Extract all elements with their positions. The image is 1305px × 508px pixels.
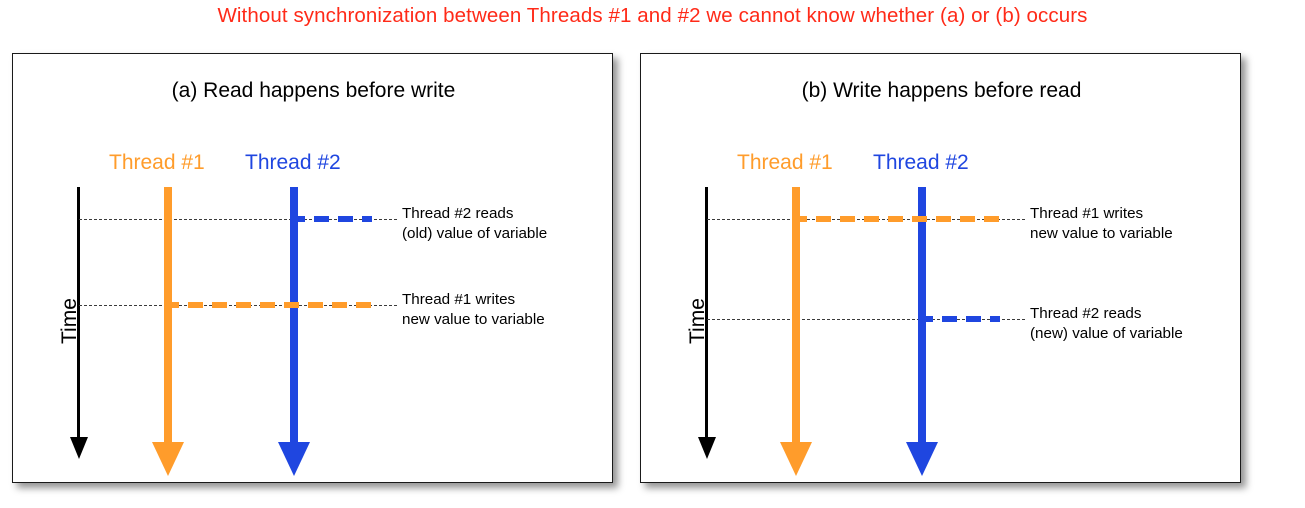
- panel-a-event1-annotation-line2: (old) value of variable: [402, 224, 547, 244]
- panel-a-event2-annotation-line2: new value to variable: [402, 310, 545, 330]
- panel-a-event2-annotation-line1: Thread #1 writes: [402, 290, 515, 310]
- panel-a-thread1-arrowhead: [152, 442, 184, 476]
- panel-b-event1-annotation-line2: new value to variable: [1030, 224, 1173, 244]
- panel-a-title: (a) Read happens before write: [13, 79, 614, 103]
- panel-b-thread2-arrowhead: [906, 442, 938, 476]
- panel-b-event2-annotation-line2: (new) value of variable: [1030, 324, 1183, 344]
- panel-b-title: (b) Write happens before read: [641, 79, 1242, 103]
- panel-b-thread2-label: Thread #2: [873, 151, 969, 175]
- diagram-caption: Without synchronization between Threads …: [0, 4, 1305, 28]
- panel-b-write-before-read: (b) Write happens before read Thread #1 …: [640, 53, 1241, 483]
- panel-b-event1-annotation-line1: Thread #1 writes: [1030, 204, 1143, 224]
- panel-b-event2-annotation-line1: Thread #2 reads: [1030, 304, 1141, 324]
- panel-a-thread2-label: Thread #2: [245, 151, 341, 175]
- panel-b-event2-dash: [918, 316, 1000, 322]
- panel-b-thread1-lifeline: [792, 187, 800, 444]
- panel-a-event2-dash: [164, 302, 372, 308]
- panel-a-event1-dash: [290, 216, 372, 222]
- panel-b-thread1-arrowhead: [780, 442, 812, 476]
- panel-b-event1-dash: [792, 216, 1000, 222]
- panel-a-thread2-arrowhead: [278, 442, 310, 476]
- panel-b-time-axis-arrowhead: [698, 437, 716, 459]
- panel-a-event1-annotation-line1: Thread #2 reads: [402, 204, 513, 224]
- panel-a-thread1-label: Thread #1: [109, 151, 205, 175]
- panel-a-read-before-write: (a) Read happens before write Thread #1 …: [12, 53, 613, 483]
- panel-b-time-label: Time: [686, 298, 710, 344]
- panel-a-time-axis-arrowhead: [70, 437, 88, 459]
- panel-a-thread1-lifeline: [164, 187, 172, 444]
- panel-b-thread1-label: Thread #1: [737, 151, 833, 175]
- panel-a-thread2-lifeline: [290, 187, 298, 444]
